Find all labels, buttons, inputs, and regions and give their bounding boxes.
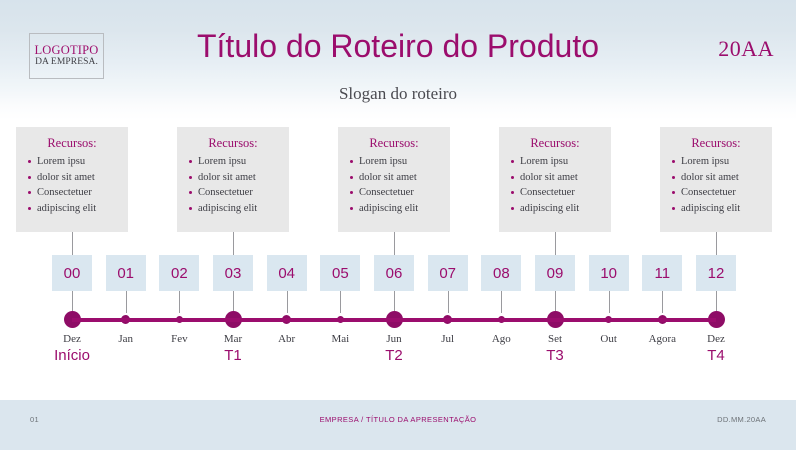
chip-connector-line <box>662 291 663 313</box>
year-label: 20AA <box>718 36 774 62</box>
box-connector-line <box>716 232 717 255</box>
feature-list-item: adipiscing elit <box>26 201 122 217</box>
timeline-number-chip[interactable]: 08 <box>481 255 521 291</box>
chip-connector-line <box>233 291 234 313</box>
feature-list-item: Consectetuer <box>348 185 444 201</box>
feature-list: Lorem ipsudolor sit ametConsectetueradip… <box>505 154 605 216</box>
timeline-axis <box>72 318 716 322</box>
timeline-number-chip[interactable]: 04 <box>267 255 307 291</box>
timeline-number-chip[interactable]: 10 <box>589 255 629 291</box>
chip-connector-line <box>394 291 395 313</box>
feature-list: Lorem ipsudolor sit ametConsectetueradip… <box>666 154 766 216</box>
feature-box-title: Recursos: <box>22 136 122 151</box>
timeline-month-label: Agora <box>632 333 692 345</box>
timeline-number-chip[interactable]: 02 <box>159 255 199 291</box>
chip-connector-line <box>287 291 288 313</box>
timeline-phase-label: T4 <box>671 347 761 364</box>
timeline-phase-label: T1 <box>188 347 278 364</box>
timeline-month-label: Ago <box>471 333 531 345</box>
chip-connector-line <box>448 291 449 313</box>
chip-connector-line <box>126 291 127 313</box>
chip-connector-line <box>179 291 180 313</box>
feature-list: Lorem ipsudolor sit ametConsectetueradip… <box>22 154 122 216</box>
chip-connector-line <box>609 291 610 313</box>
timeline-number-chip[interactable]: 06 <box>374 255 414 291</box>
timeline-number-chip[interactable]: 11 <box>642 255 682 291</box>
feature-box-title: Recursos: <box>183 136 283 151</box>
timeline-month-label: Jul <box>418 333 478 345</box>
feature-list-item: adipiscing elit <box>348 201 444 217</box>
feature-list-item: Lorem ipsu <box>509 154 605 170</box>
feature-list-item: Lorem ipsu <box>348 154 444 170</box>
timeline-month-label: Out <box>579 333 639 345</box>
box-connector-line <box>72 232 73 255</box>
footer-date: DD.MM.20AA <box>717 415 766 424</box>
feature-box[interactable]: Recursos:Lorem ipsudolor sit ametConsect… <box>499 127 611 232</box>
feature-list-item: adipiscing elit <box>187 201 283 217</box>
feature-list-item: Consectetuer <box>509 185 605 201</box>
feature-box[interactable]: Recursos:Lorem ipsudolor sit ametConsect… <box>16 127 128 232</box>
page-subtitle: Slogan do roteiro <box>0 84 796 104</box>
timeline-number-chip[interactable]: 09 <box>535 255 575 291</box>
box-connector-line <box>233 232 234 255</box>
feature-list-item: dolor sit amet <box>26 170 122 186</box>
feature-list-item: dolor sit amet <box>509 170 605 186</box>
timeline-number-chip[interactable]: 03 <box>213 255 253 291</box>
footer-band <box>0 400 796 450</box>
page-title: Título do Roteiro do Produto <box>0 28 796 65</box>
timeline-number-chip[interactable]: 12 <box>696 255 736 291</box>
feature-box-title: Recursos: <box>505 136 605 151</box>
timeline-number-chip[interactable]: 01 <box>106 255 146 291</box>
footer-company-title: EMPRESA / TÍTULO DA APRESENTAÇÃO <box>0 415 796 424</box>
timeline-phase-label: Início <box>27 347 117 364</box>
timeline-phase-label: T3 <box>510 347 600 364</box>
feature-box[interactable]: Recursos:Lorem ipsudolor sit ametConsect… <box>338 127 450 232</box>
slide-canvas: LOGOTIPO DA EMPRESA. Título do Roteiro d… <box>0 0 796 450</box>
timeline-month-label: Set <box>525 333 585 345</box>
feature-list: Lorem ipsudolor sit ametConsectetueradip… <box>183 154 283 216</box>
feature-list-item: adipiscing elit <box>509 201 605 217</box>
timeline-phase-label: T2 <box>349 347 439 364</box>
chip-connector-line <box>716 291 717 313</box>
timeline-month-label: Mai <box>310 333 370 345</box>
feature-list-item: dolor sit amet <box>670 170 766 186</box>
timeline-month-label: Dez <box>42 333 102 345</box>
feature-box[interactable]: Recursos:Lorem ipsudolor sit ametConsect… <box>177 127 289 232</box>
chip-connector-line <box>555 291 556 313</box>
timeline-month-label: Jun <box>364 333 424 345</box>
feature-list-item: Consectetuer <box>26 185 122 201</box>
feature-list-item: Lorem ipsu <box>670 154 766 170</box>
feature-list-item: dolor sit amet <box>187 170 283 186</box>
timeline-month-label: Abr <box>257 333 317 345</box>
chip-connector-line <box>340 291 341 313</box>
timeline-month-label: Fev <box>149 333 209 345</box>
feature-list-item: Lorem ipsu <box>187 154 283 170</box>
feature-list-item: Consectetuer <box>670 185 766 201</box>
feature-list-item: dolor sit amet <box>348 170 444 186</box>
feature-list-item: adipiscing elit <box>670 201 766 217</box>
box-connector-line <box>555 232 556 255</box>
feature-list-item: Consectetuer <box>187 185 283 201</box>
feature-box[interactable]: Recursos:Lorem ipsudolor sit ametConsect… <box>660 127 772 232</box>
timeline-month-label: Jan <box>96 333 156 345</box>
feature-list: Lorem ipsudolor sit ametConsectetueradip… <box>344 154 444 216</box>
box-connector-line <box>394 232 395 255</box>
chip-connector-line <box>501 291 502 313</box>
timeline-number-chip[interactable]: 05 <box>320 255 360 291</box>
timeline-month-label: Mar <box>203 333 263 345</box>
feature-box-title: Recursos: <box>666 136 766 151</box>
timeline-month-label: Dez <box>686 333 746 345</box>
timeline-number-chip[interactable]: 07 <box>428 255 468 291</box>
timeline-number-chip[interactable]: 00 <box>52 255 92 291</box>
feature-box-title: Recursos: <box>344 136 444 151</box>
feature-list-item: Lorem ipsu <box>26 154 122 170</box>
chip-connector-line <box>72 291 73 313</box>
